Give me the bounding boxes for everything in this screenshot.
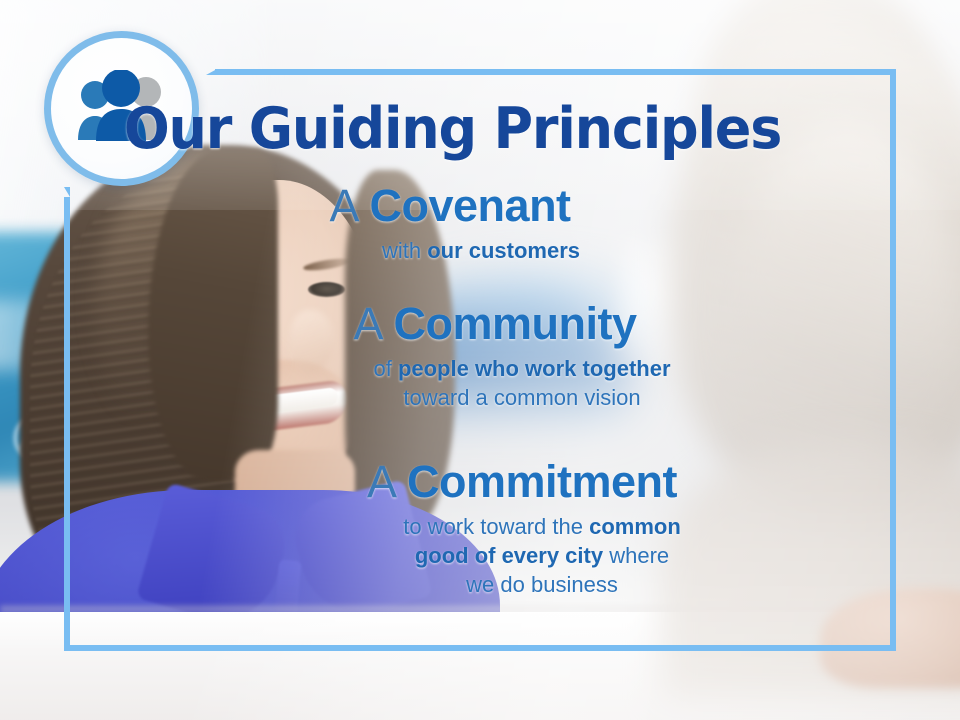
people-badge (44, 31, 199, 186)
customer-figure-blurred (670, 0, 960, 660)
hair-front-right (345, 170, 455, 530)
eye-right (308, 282, 345, 297)
nose (290, 310, 334, 372)
people-group-icon (66, 70, 178, 148)
guiding-principles-banner: FLOW AUTOMOTIVE FLOW (0, 0, 960, 720)
